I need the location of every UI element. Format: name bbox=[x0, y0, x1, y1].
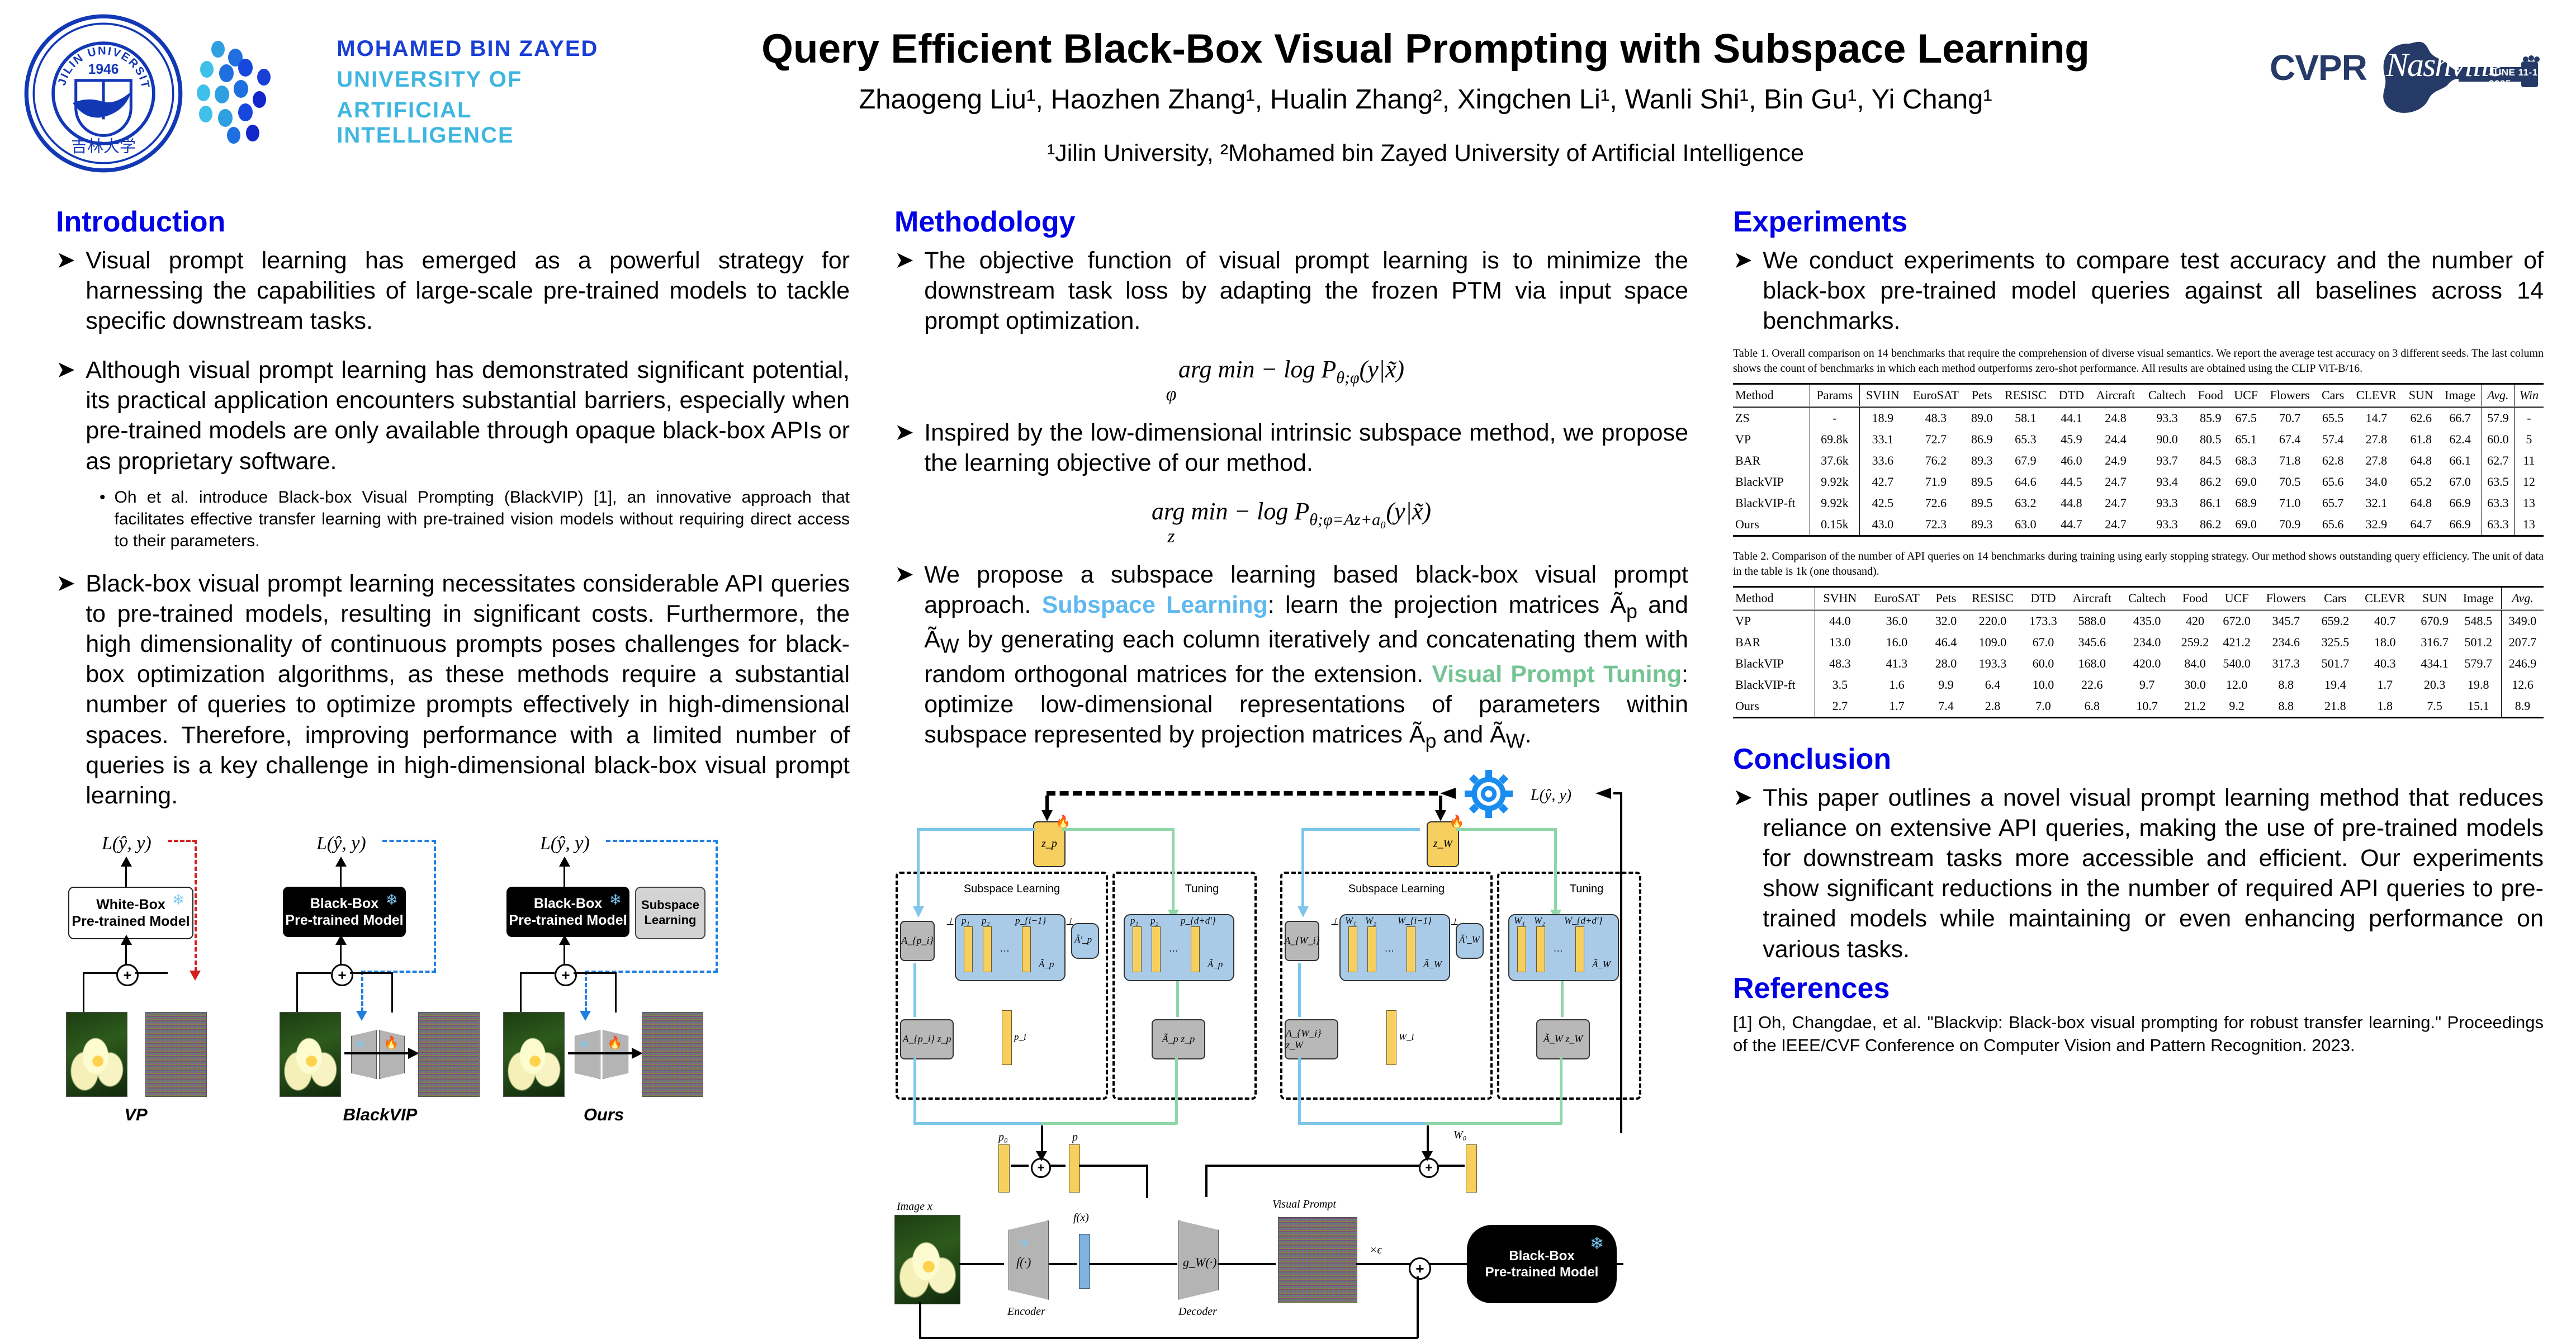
vp-model-label-1: White-Box bbox=[96, 896, 165, 914]
sl-bar-w-2 bbox=[1367, 926, 1376, 972]
zp-down-arrow-icon bbox=[1041, 796, 1053, 821]
sl-matrix-label-p: Ã_p bbox=[1039, 959, 1054, 970]
blackvip-right-up bbox=[391, 972, 393, 1012]
green-path-w-top bbox=[1456, 828, 1556, 831]
Awzw-card: Ã_W z_W bbox=[1536, 1019, 1590, 1059]
t1-r0-c6: 44.1 bbox=[2053, 407, 2090, 429]
t2-r1-c4: 109.0 bbox=[1963, 632, 2022, 653]
blackvip-plus-icon: + bbox=[331, 964, 353, 986]
t1-r2-c6: 46.0 bbox=[2053, 450, 2090, 471]
ours-model-label-2: Pre-trained Model bbox=[509, 912, 627, 929]
table-row: Ours 2.71.7 7.42.8 7.06.8 10.721.2 9.28.… bbox=[1733, 695, 2544, 718]
vp-left-in bbox=[83, 972, 117, 974]
t2-r2-c9: 540.0 bbox=[2216, 653, 2258, 674]
t1-r2-c8: 93.7 bbox=[2142, 450, 2193, 471]
sl-col-label-w-1: W₁ bbox=[1345, 915, 1356, 926]
t2-r0-c14: 548.5 bbox=[2455, 610, 2501, 632]
ours-grad-dash-h bbox=[606, 840, 718, 842]
pipeline-input-image bbox=[894, 1215, 960, 1304]
table-row: BlackVIP 48.341.3 28.0193.3 60.0168.0 42… bbox=[1733, 653, 2544, 674]
Apzp-card: Ã_p z_p bbox=[1152, 1019, 1205, 1059]
tuning-box-p bbox=[1112, 872, 1257, 1100]
method-bullet-3-text: We propose a subspace learning based bla… bbox=[924, 560, 1688, 754]
sl-col-label-p-2: p₂ bbox=[982, 915, 989, 926]
equation-1: arg min − log Pθ;φ(y|x̃) φ bbox=[894, 355, 1688, 405]
sl-ellipsis-w: … bbox=[1385, 943, 1394, 954]
t1-r2-c3: 76.2 bbox=[1906, 450, 1966, 471]
orth-symbol-w-1: ⊥ bbox=[1330, 916, 1339, 928]
t1-r4-c9: 86.1 bbox=[2193, 493, 2229, 514]
pipeline-model-label-1: Black-Box bbox=[1509, 1248, 1574, 1264]
t1-r3-c17: 12 bbox=[2514, 471, 2544, 493]
ours-prompt-noise bbox=[642, 1012, 703, 1097]
wi-bar bbox=[1386, 1010, 1396, 1065]
t1-r0-c14: 62.6 bbox=[2403, 407, 2438, 429]
sl-col-label-p-1: p₁ bbox=[962, 915, 969, 926]
t1-col-10: UCF bbox=[2229, 384, 2264, 407]
t2-r3-c14: 19.8 bbox=[2455, 674, 2501, 695]
image-x-label: Image x bbox=[897, 1200, 932, 1213]
section-heading-references: References bbox=[1733, 973, 2544, 1004]
t2-r4-c2: 1.7 bbox=[1864, 695, 1929, 718]
green-path-p-bottom-h bbox=[1041, 1122, 1177, 1125]
t2-r2-c11: 501.7 bbox=[2314, 653, 2356, 674]
table-row: BlackVIP-ft 3.51.6 9.96.4 10.022.6 9.730… bbox=[1733, 674, 2544, 695]
blackvip-caption: BlackVIP bbox=[280, 1105, 481, 1125]
t1-col-5: RESISC bbox=[1998, 384, 2053, 407]
t1-r4-c2: 42.5 bbox=[1859, 493, 1906, 514]
column-experiments: Experiments ➤ We conduct experiments to … bbox=[1733, 207, 2544, 1057]
equation-2-sub: θ;φ=Az+a₀ bbox=[1309, 510, 1386, 529]
p-label: p bbox=[1072, 1131, 1078, 1144]
tn-col-label-p-1: p₁ bbox=[1130, 915, 1138, 926]
subspace-learning-box-w bbox=[1280, 872, 1493, 1100]
ours-grad-arrowhead-icon bbox=[578, 1007, 593, 1021]
t2-r3-c7: 9.7 bbox=[2120, 674, 2174, 695]
t2-r3-c12: 1.7 bbox=[2356, 674, 2414, 695]
pi-label: p_i bbox=[1014, 1032, 1026, 1043]
bullet-arrow-icon: ➤ bbox=[894, 245, 914, 337]
m3-highlight-tuning: Visual Prompt Tuning bbox=[1432, 661, 1682, 688]
t2-col-4: RESISC bbox=[1963, 587, 2022, 610]
vp-grad-arrowhead-icon bbox=[188, 967, 202, 981]
t2-r3-c8: 30.0 bbox=[2174, 674, 2216, 695]
t1-col-13: CLEVR bbox=[2350, 384, 2403, 407]
t2-r0-c15: 349.0 bbox=[2502, 610, 2544, 632]
t1-r5-c10: 69.0 bbox=[2229, 514, 2264, 536]
t1-r4-c13: 32.1 bbox=[2350, 493, 2403, 514]
table-2-body: VP 44.036.0 32.0220.0 173.3588.0 435.042… bbox=[1733, 610, 2544, 718]
t2-r0-c2: 36.0 bbox=[1864, 610, 1929, 632]
t1-r4-c16: 63.3 bbox=[2482, 493, 2514, 514]
blue-path-p-mid bbox=[913, 963, 916, 1017]
vp-input-image bbox=[66, 1012, 127, 1097]
t1-col-17: Win bbox=[2514, 384, 2544, 407]
poster-header: JILIN UNIVERSITY · CHINA 1946 吉林大学 bbox=[0, 0, 2576, 190]
t2-r1-c7: 234.0 bbox=[2120, 632, 2174, 653]
equation-2: arg min − log Pθ;φ=Az+a₀(y|x̃) z bbox=[894, 497, 1688, 547]
orth-symbol-w-2: ⊥ bbox=[1450, 916, 1459, 928]
t1-r1-c3: 72.7 bbox=[1906, 429, 1966, 450]
t2-r0-c3: 32.0 bbox=[1929, 610, 1963, 632]
t1-r0-c13: 14.7 bbox=[2350, 407, 2403, 429]
t2-r0-c6: 588.0 bbox=[2064, 610, 2120, 632]
t2-r1-c13: 316.7 bbox=[2414, 632, 2456, 653]
t1-r3-c6: 44.5 bbox=[2053, 471, 2090, 493]
table-1-body: ZS - 18.948.3 89.058.1 44.124.8 93.385.9… bbox=[1733, 407, 2544, 536]
bullet-arrow-icon: ➤ bbox=[894, 560, 914, 754]
table-2-header-row: Method SVHN EuroSAT Pets RESISC DTD Airc… bbox=[1733, 587, 2544, 610]
t1-r0-c11: 70.7 bbox=[2264, 407, 2317, 429]
t2-r2-c4: 193.3 bbox=[1963, 653, 2022, 674]
t1-r3-c15: 67.0 bbox=[2438, 471, 2482, 493]
t1-r5-c8: 93.3 bbox=[2142, 514, 2193, 536]
p0-label: p₀ bbox=[998, 1131, 1008, 1144]
t2-r0-c10: 345.7 bbox=[2257, 610, 2314, 632]
t1-r0-c8: 93.3 bbox=[2142, 407, 2193, 429]
t2-r0-c5: 173.3 bbox=[2023, 610, 2064, 632]
blue-path-w-top bbox=[1301, 828, 1420, 831]
vp-caption: VP bbox=[66, 1105, 206, 1125]
t1-r3-c8: 93.4 bbox=[2142, 471, 2193, 493]
blackvip-prompt-noise bbox=[418, 1012, 480, 1097]
a-prime-label-p: Ã′_p bbox=[1074, 934, 1092, 945]
encoder-label: Encoder bbox=[1007, 1305, 1045, 1318]
encoder-fn-label: f(·) bbox=[1016, 1255, 1031, 1270]
figure-architecture: L(ŷ, y) z_p 🔥 z_W 🔥 Subspace Learning Tu… bbox=[894, 773, 1688, 1209]
t2-r1-c2: 16.0 bbox=[1864, 632, 1929, 653]
t2-r2-c1: 48.3 bbox=[1815, 653, 1864, 674]
t2-r4-c9: 9.2 bbox=[2216, 695, 2258, 718]
ours-model-label-1: Black-Box bbox=[534, 895, 602, 912]
green-path-w-bottom-v bbox=[1560, 1057, 1562, 1124]
table-row: ZS - 18.948.3 89.058.1 44.124.8 93.385.9… bbox=[1733, 407, 2544, 429]
t1-r4-c6: 44.8 bbox=[2053, 493, 2090, 514]
t1-r1-c4: 86.9 bbox=[1966, 429, 1998, 450]
t1-r4-c1: 9.92k bbox=[1810, 493, 1859, 514]
equation-2-tail: (y|x̃) bbox=[1386, 498, 1431, 525]
t2-r1-c3: 46.4 bbox=[1929, 632, 1963, 653]
table-1-head: Method Params SVHN EuroSAT Pets RESISC D… bbox=[1733, 384, 2544, 407]
t2-r4-c1: 2.7 bbox=[1815, 695, 1864, 718]
section-heading-experiments: Experiments bbox=[1733, 207, 2544, 238]
t1-r2-c12: 62.8 bbox=[2317, 450, 2350, 471]
m3-p3b: and Ã bbox=[1436, 721, 1505, 748]
t2-r0-c13: 670.9 bbox=[2414, 610, 2456, 632]
table-2: Method SVHN EuroSAT Pets RESISC DTD Airc… bbox=[1733, 586, 2544, 718]
t1-r3-c5: 64.6 bbox=[1998, 471, 2053, 493]
blue-path-w-bottom-h bbox=[1298, 1122, 1427, 1125]
t1-r5-c0: Ours bbox=[1733, 514, 1810, 536]
t2-r4-c7: 10.7 bbox=[2120, 695, 2174, 718]
t2-col-6: Aircraft bbox=[2064, 587, 2120, 610]
t2-r1-c12: 18.0 bbox=[2356, 632, 2414, 653]
t2-r3-c3: 9.9 bbox=[1929, 674, 1963, 695]
p0-to-plus bbox=[1011, 1165, 1029, 1167]
t1-r3-c13: 34.0 bbox=[2350, 471, 2403, 493]
tn-bar-w-2 bbox=[1536, 926, 1545, 972]
t1-col-14: SUN bbox=[2403, 384, 2438, 407]
t2-col-8: Food bbox=[2174, 587, 2216, 610]
blackvip-grad-dash-v2 bbox=[361, 971, 363, 1012]
decoder-to-prompt bbox=[1218, 1263, 1276, 1265]
green-path-w-mid bbox=[1561, 981, 1564, 1017]
vp-grad-dash-v bbox=[195, 840, 197, 972]
Awizw-card: A_{W_i} z_W bbox=[1285, 1019, 1338, 1059]
m3-p3c: . bbox=[1525, 721, 1532, 748]
tn-bar-p-1 bbox=[1133, 926, 1142, 972]
bullet-arrow-icon: ➤ bbox=[1733, 783, 1753, 964]
ours-flow-arrow-icon bbox=[631, 1047, 643, 1060]
t1-r2-c0: BAR bbox=[1733, 450, 1810, 471]
tn-matrix-label-p: Ã_p bbox=[1207, 959, 1223, 970]
t1-r4-c8: 93.3 bbox=[2142, 493, 2193, 514]
flame-icon: 🔥 bbox=[1449, 815, 1464, 829]
t1-r2-c17: 11 bbox=[2514, 450, 2544, 471]
mbzuai-line-2: UNIVERSITY OF bbox=[337, 67, 654, 92]
table-row: BAR 13.016.0 46.4109.0 67.0345.6 234.025… bbox=[1733, 632, 2544, 653]
equation-2-under: z bbox=[654, 526, 1688, 547]
t1-r1-c2: 33.1 bbox=[1859, 429, 1906, 450]
w0-to-plus bbox=[1438, 1165, 1465, 1167]
t1-r1-c14: 61.8 bbox=[2403, 429, 2438, 450]
tuning-title-p: Tuning bbox=[1157, 883, 1247, 896]
t2-r1-c8: 259.2 bbox=[2174, 632, 2216, 653]
model-out-h bbox=[1617, 1263, 1623, 1265]
t2-col-2: EuroSAT bbox=[1864, 587, 1929, 610]
fx-to-decoder bbox=[1089, 1263, 1177, 1265]
t1-r3-c7: 24.7 bbox=[2090, 471, 2142, 493]
tn-bar-p-3 bbox=[1191, 926, 1200, 972]
skip-v bbox=[919, 1302, 921, 1339]
blackvip-model-label-2: Pre-trained Model bbox=[285, 912, 403, 929]
blue-path-w-bottom-v bbox=[1298, 1057, 1301, 1124]
t1-r3-c14: 65.2 bbox=[2403, 471, 2438, 493]
t1-r1-c5: 65.3 bbox=[1998, 429, 2053, 450]
t2-r4-c4: 2.8 bbox=[1963, 695, 2022, 718]
table-row: BlackVIP-ft 9.92k 42.572.6 89.563.2 44.8… bbox=[1733, 493, 2544, 514]
blackvip-left-up bbox=[296, 972, 298, 1012]
t1-col-1: Params bbox=[1810, 384, 1859, 407]
t2-r2-c7: 420.0 bbox=[2120, 653, 2174, 674]
t1-r1-c6: 45.9 bbox=[2053, 429, 2090, 450]
t1-r0-c16: 57.9 bbox=[2482, 407, 2514, 429]
t2-r4-c14: 15.1 bbox=[2455, 695, 2501, 718]
t2-col-7: Caltech bbox=[2120, 587, 2174, 610]
intro-bullet-1-text: Visual prompt learning has emerged as a … bbox=[86, 245, 850, 337]
t1-r2-c16: 62.7 bbox=[2482, 450, 2514, 471]
tn-bar-p-2 bbox=[1152, 926, 1161, 972]
tn-matrix-label-w: Ã_W bbox=[1592, 959, 1611, 970]
method-bullet-1: ➤ The objective function of visual promp… bbox=[894, 245, 1688, 337]
poster-root: JILIN UNIVERSITY · CHINA 1946 吉林大学 bbox=[0, 0, 2576, 1288]
section-heading-conclusion: Conclusion bbox=[1733, 744, 2544, 775]
tn-ellipsis-p: … bbox=[1169, 943, 1178, 954]
t1-r1-c12: 57.4 bbox=[2317, 429, 2350, 450]
blue-arrow-icon bbox=[912, 903, 925, 917]
ours-plus-icon: + bbox=[555, 964, 577, 986]
t1-r5-c11: 70.9 bbox=[2264, 514, 2317, 536]
t1-r1-c10: 65.1 bbox=[2229, 429, 2264, 450]
method-bullet-2-text: Inspired by the low-dimensional intrinsi… bbox=[924, 418, 1688, 478]
sl-bar-p-1 bbox=[964, 926, 973, 972]
t2-col-12: CLEVR bbox=[2356, 587, 2414, 610]
table-row: BAR 37.6k 33.676.2 89.367.9 46.024.9 93.… bbox=[1733, 450, 2544, 471]
bullet-arrow-icon: ➤ bbox=[894, 418, 914, 478]
column-methodology: Methodology ➤ The objective function of … bbox=[894, 207, 1688, 1209]
tn-col-label-p-2: p₂ bbox=[1150, 915, 1158, 926]
w-to-decoder-h bbox=[1205, 1165, 1419, 1167]
t1-r1-c11: 67.4 bbox=[2264, 429, 2317, 450]
gear-icon bbox=[1465, 770, 1513, 818]
t1-col-6: DTD bbox=[2053, 384, 2090, 407]
w-plus-arrow-icon bbox=[1421, 1151, 1433, 1161]
ours-grad-dash-v bbox=[716, 840, 718, 973]
w0-bar bbox=[1466, 1144, 1477, 1193]
vp-grad-dash-h bbox=[168, 840, 197, 842]
ours-right-up bbox=[615, 972, 617, 1012]
p-bar bbox=[1069, 1144, 1080, 1193]
t2-r2-c13: 434.1 bbox=[2414, 653, 2456, 674]
table-2-caption: Table 2. Comparison of the number of API… bbox=[1733, 549, 2544, 579]
pi-bar bbox=[1002, 1010, 1012, 1065]
t1-r4-c5: 63.2 bbox=[1998, 493, 2053, 514]
figure-method-comparison: L(ŷ, y) White-Box Pre-trained Model ❄ + … bbox=[56, 830, 850, 1143]
blackvip-loss-label: L(ŷ, y) bbox=[316, 833, 366, 854]
affiliation-list: ¹Jilin University, ²Mohamed bin Zayed Un… bbox=[643, 140, 2208, 167]
t2-r2-c15: 246.9 bbox=[2502, 653, 2544, 674]
vp-loss-label: L(ŷ, y) bbox=[102, 833, 151, 854]
ours-subspace-label-1: Subspace bbox=[641, 898, 699, 913]
blackvip-grad-dash-h bbox=[382, 840, 436, 842]
t2-r1-c1: 13.0 bbox=[1815, 632, 1864, 653]
t1-r0-c1: - bbox=[1810, 407, 1859, 429]
method-bullet-1-text: The objective function of visual prompt … bbox=[924, 245, 1688, 337]
t1-r5-c4: 89.3 bbox=[1966, 514, 1998, 536]
t1-r4-c7: 24.7 bbox=[2090, 493, 2142, 514]
tn-bar-w-1 bbox=[1517, 926, 1526, 972]
t2-r2-c6: 168.0 bbox=[2064, 653, 2120, 674]
t2-r3-c2: 1.6 bbox=[1864, 674, 1929, 695]
t2-r2-c2: 41.3 bbox=[1864, 653, 1929, 674]
green-path-p-mid bbox=[1176, 981, 1179, 1017]
wi-label: W_i bbox=[1399, 1032, 1414, 1043]
blue-arrow-icon bbox=[1297, 903, 1309, 917]
t2-r4-c8: 21.2 bbox=[2174, 695, 2216, 718]
t1-r2-c14: 64.8 bbox=[2403, 450, 2438, 471]
t1-r3-c2: 42.7 bbox=[1859, 471, 1906, 493]
t2-r3-c0: BlackVIP-ft bbox=[1733, 674, 1815, 695]
encoder-to-fx bbox=[1049, 1263, 1077, 1265]
w0-label: W₀ bbox=[1453, 1129, 1467, 1142]
ours-grad-dash-v2 bbox=[585, 971, 587, 1012]
t1-r2-c7: 24.9 bbox=[2090, 450, 2142, 471]
ours-subspace-label-2: Learning bbox=[645, 913, 697, 928]
blue-path-p-bottom-v bbox=[913, 1057, 916, 1124]
t2-r1-c11: 325.5 bbox=[2314, 632, 2356, 653]
t1-col-9: Food bbox=[2193, 384, 2229, 407]
t2-r0-c12: 40.7 bbox=[2356, 610, 2414, 632]
Awi-card: A_{W_i} bbox=[1285, 921, 1319, 961]
sl-bar-p-2 bbox=[983, 926, 992, 972]
t1-r4-c12: 65.7 bbox=[2317, 493, 2350, 514]
cvpr-date-label: JUNE 11-15, 2025 bbox=[2489, 67, 2549, 89]
t1-r1-c7: 24.4 bbox=[2090, 429, 2142, 450]
ours-left-in bbox=[520, 972, 555, 974]
m3-highlight-subspace: Subspace Learning bbox=[1042, 592, 1268, 618]
decoder-label: Decoder bbox=[1178, 1305, 1217, 1318]
snowflake-icon: ❄ bbox=[172, 891, 184, 909]
experiments-bullet-text: We conduct experiments to compare test a… bbox=[1763, 245, 2544, 337]
t1-col-4: Pets bbox=[1966, 384, 1998, 407]
tn-col-label-w-1: W₁ bbox=[1514, 915, 1525, 926]
t2-r3-c9: 12.0 bbox=[2216, 674, 2258, 695]
equation-1-main: arg min − log P bbox=[1178, 356, 1336, 383]
t1-r3-c1: 9.92k bbox=[1810, 471, 1859, 493]
t1-r3-c9: 86.2 bbox=[2193, 471, 2229, 493]
t2-r1-c10: 234.6 bbox=[2257, 632, 2314, 653]
table-row: VP 44.036.0 32.0220.0 173.3588.0 435.042… bbox=[1733, 610, 2544, 632]
t2-r1-c5: 67.0 bbox=[2023, 632, 2064, 653]
p-to-decoder-v bbox=[1146, 1165, 1148, 1198]
t2-col-9: UCF bbox=[2216, 587, 2258, 610]
t2-r3-c5: 10.0 bbox=[2023, 674, 2064, 695]
t1-r5-c7: 24.7 bbox=[2090, 514, 2142, 536]
ours-input-image bbox=[503, 1012, 565, 1097]
t1-col-15: Image bbox=[2438, 384, 2482, 407]
plus-to-model bbox=[1429, 1263, 1467, 1265]
tn-col-label-p-3: p_{d+d′} bbox=[1181, 915, 1216, 926]
t2-r4-c12: 1.8 bbox=[2356, 695, 2414, 718]
t1-r5-c16: 63.3 bbox=[2482, 514, 2514, 536]
t1-col-12: Cars bbox=[2317, 384, 2350, 407]
intro-bullet-1: ➤ Visual prompt learning has emerged as … bbox=[56, 245, 850, 337]
blue-path-p-down bbox=[917, 828, 920, 906]
t1-r4-c4: 89.5 bbox=[1966, 493, 1998, 514]
t1-r2-c11: 71.8 bbox=[2264, 450, 2317, 471]
flame-icon: 🔥 bbox=[607, 1035, 622, 1050]
t1-r3-c16: 63.5 bbox=[2482, 471, 2514, 493]
subspace-learning-box-p bbox=[896, 872, 1108, 1100]
t2-r4-c10: 8.8 bbox=[2257, 695, 2314, 718]
decoder-fn-label: g_W(·) bbox=[1183, 1255, 1216, 1270]
prompt-to-plus bbox=[1356, 1263, 1410, 1265]
t1-r5-c15: 66.9 bbox=[2438, 514, 2482, 536]
tuning-box-w bbox=[1497, 872, 1641, 1100]
tn-ellipsis-w: … bbox=[1554, 943, 1562, 954]
t1-r0-c7: 24.8 bbox=[2090, 407, 2142, 429]
t1-r3-c11: 70.5 bbox=[2264, 471, 2317, 493]
t1-r1-c8: 90.0 bbox=[2142, 429, 2193, 450]
t2-r2-c0: BlackVIP bbox=[1733, 653, 1815, 674]
t2-r4-c3: 7.4 bbox=[1929, 695, 1963, 718]
t1-r4-c11: 71.0 bbox=[2264, 493, 2317, 514]
blue-path-p-top bbox=[917, 828, 1035, 831]
sl-bar-w-3 bbox=[1407, 926, 1415, 972]
t1-r5-c2: 43.0 bbox=[1859, 514, 1906, 536]
cvpr-logo: CVPR Nashville JUNE 11-15, 2025 bbox=[2270, 27, 2549, 122]
table-row: VP 69.8k 33.172.7 86.965.3 45.924.4 90.0… bbox=[1733, 429, 2544, 450]
t1-r1-c17: 5 bbox=[2514, 429, 2544, 450]
pipeline-model-label-2: Pre-trained Model bbox=[1485, 1264, 1599, 1280]
t2-col-3: Pets bbox=[1929, 587, 1963, 610]
t1-col-0: Method bbox=[1733, 384, 1810, 407]
sl-col-label-w-2: W₂ bbox=[1365, 915, 1376, 926]
t1-r0-c10: 67.5 bbox=[2229, 407, 2264, 429]
t2-r3-c11: 19.4 bbox=[2314, 674, 2356, 695]
t1-r0-c12: 65.5 bbox=[2317, 407, 2350, 429]
t2-col-0: Method bbox=[1733, 587, 1815, 610]
